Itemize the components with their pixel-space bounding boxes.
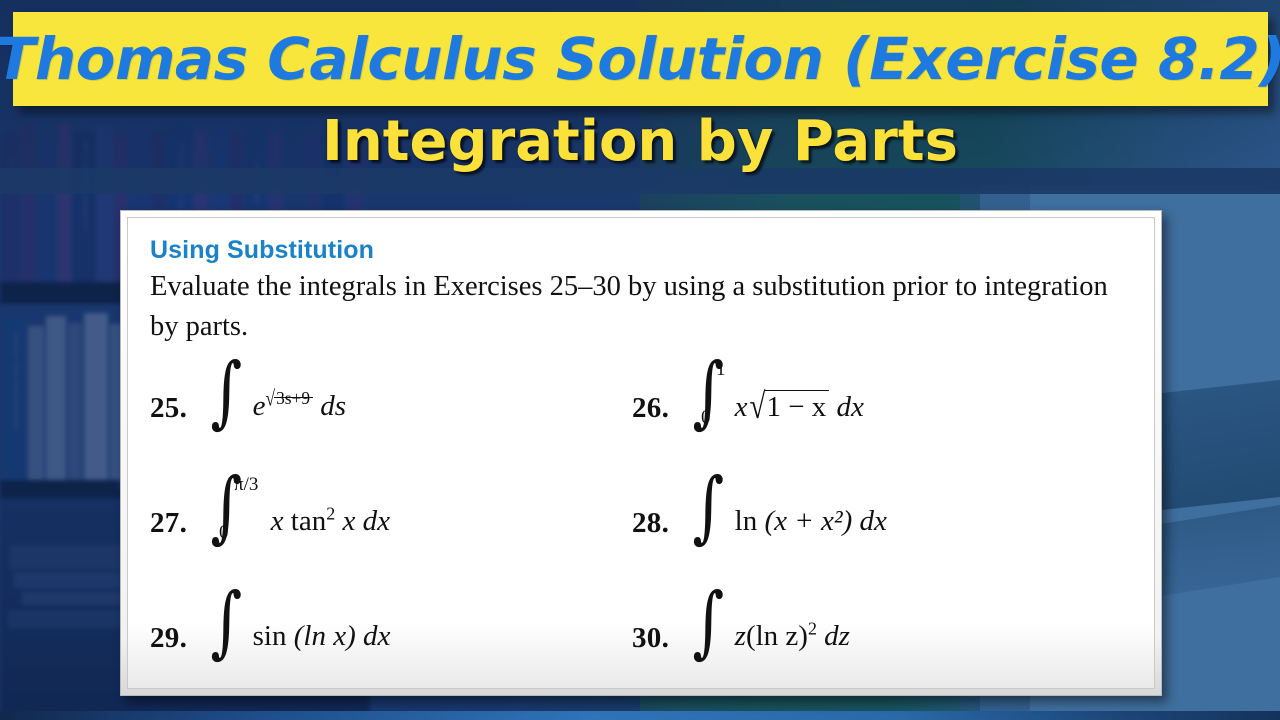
problem-item: 28. ∫ ln (x + x²) dx (632, 477, 1132, 592)
problem-grid: 25. ∫ e√3s+9 ds 26. ∫ 1 (150, 362, 1132, 689)
problem-expression: x tan2 x dx (253, 477, 390, 538)
expr-function: tan (291, 505, 326, 537)
expr-radicand: 1 − x (764, 390, 829, 424)
integral-upper-limit: π/3 (234, 474, 258, 496)
problem-item: 30. ∫ z(ln z)2 dz (632, 592, 1132, 689)
expr-differential: dx (860, 505, 887, 537)
content-panel-frame: Using Substitution Evaluate the integral… (120, 210, 1162, 696)
problem-item: 25. ∫ e√3s+9 ds (150, 362, 632, 477)
problem-expression: sin (ln x) dx (253, 592, 391, 653)
problem-number: 26. (632, 362, 688, 425)
problem-number: 29. (150, 592, 206, 655)
expr-prefix: z (735, 620, 746, 652)
integral-sign: ∫ π/3 0 (206, 477, 247, 538)
expr-argument: (ln z) (746, 620, 808, 652)
expr-argument: (x + x²) (764, 505, 852, 537)
expr-differential: dx (837, 391, 864, 423)
page-title: Thomas Calculus Solution (Exercise 8.2) (0, 30, 1280, 88)
problem-number: 28. (632, 477, 688, 540)
integral-lower-limit: 0 (701, 407, 711, 429)
problem-item: 27. ∫ π/3 0 x tan2 x dx (150, 477, 632, 592)
expr-power: 2 (808, 618, 817, 638)
expr-differential: dz (824, 620, 850, 652)
problem-number: 30. (632, 592, 688, 655)
integral-sign: ∫ (688, 592, 729, 653)
problem-expression: e√3s+9 ds (253, 362, 346, 423)
expr-function: sin (253, 620, 287, 652)
expr-argument: (ln x) (294, 620, 356, 652)
expr-differential: dx (363, 620, 390, 652)
expr-power: 2 (326, 503, 335, 523)
problem-expression: x√1 − x dx (735, 362, 864, 424)
expr-differential: ds (320, 390, 346, 422)
background-bottom-strip (0, 711, 1280, 720)
integral-upper-limit: 1 (716, 359, 726, 381)
problem-item: 29. ∫ sin (ln x) dx (150, 592, 632, 689)
slide-canvas: CALCULUS WITH ANALYTIC GEOMETRY Elementa… (0, 0, 1280, 720)
problem-expression: ln (x + x²) dx (735, 477, 887, 538)
expr-radicand: 3s+9 (274, 397, 313, 398)
problem-number: 27. (150, 477, 206, 540)
integral-sign: ∫ (688, 477, 729, 538)
integral-sign: ∫ 1 0 (688, 362, 729, 423)
expr-base: e (253, 390, 266, 422)
integral-lower-limit: 0 (219, 522, 229, 544)
expr-function: ln (735, 505, 758, 537)
expr-prefix: x (735, 391, 748, 423)
page-subtitle: Integration by Parts (0, 113, 1280, 172)
integral-sign: ∫ (206, 362, 247, 423)
title-banner: Thomas Calculus Solution (Exercise 8.2) (13, 12, 1268, 106)
problem-expression: z(ln z)2 dz (735, 592, 850, 653)
instruction-text: Evaluate the integrals in Exercises 25–3… (150, 267, 1132, 348)
expr-differential: dx (363, 505, 390, 537)
problem-item: 26. ∫ 1 0 x√1 − x dx (632, 362, 1132, 477)
section-heading: Using Substitution (150, 236, 1132, 265)
content-panel: Using Substitution Evaluate the integral… (127, 217, 1155, 689)
integral-sign: ∫ (206, 592, 247, 653)
problem-number: 25. (150, 362, 206, 425)
